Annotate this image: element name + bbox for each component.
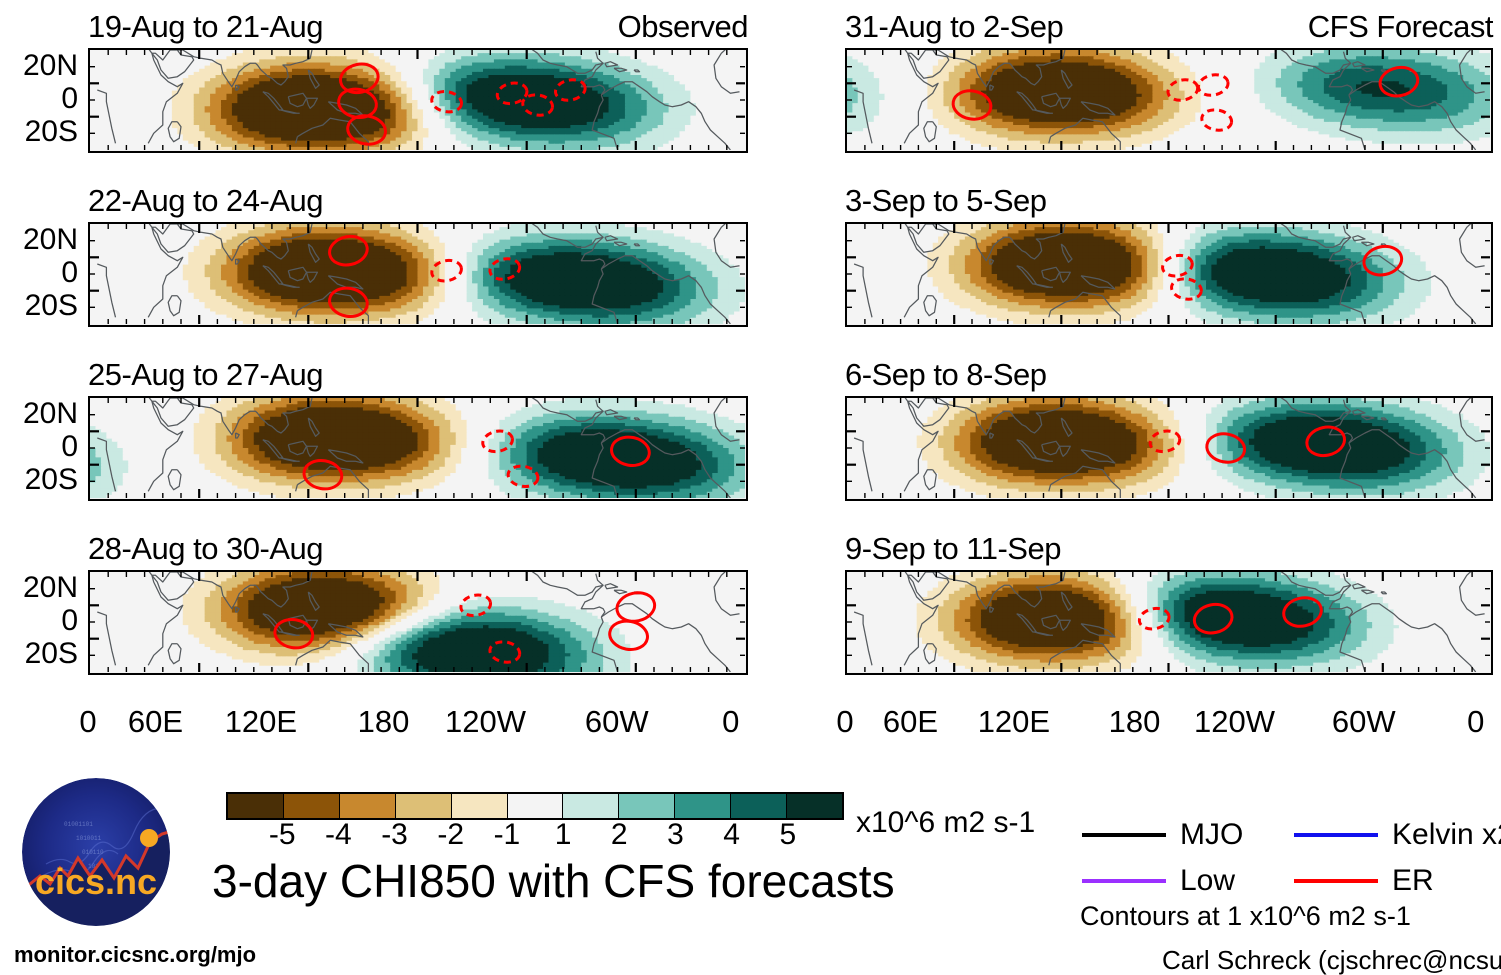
colorbar-tick-1: 1 (555, 820, 572, 850)
map-canvas-fcst-3 (845, 396, 1493, 501)
map-panel-obs-1: 19-Aug to 21-AugObserved (88, 48, 748, 153)
colorbar-bin-1 (284, 794, 340, 818)
colorbar-bin-0 (228, 794, 284, 818)
map-canvas-fcst-4 (845, 570, 1493, 675)
colorbar: -5-4-3-2-112345 (226, 792, 844, 854)
x-tick-label: 60W (585, 706, 649, 737)
y-axis-labels-row2: 20N020S (0, 225, 78, 324)
x-tick-label: 60E (128, 706, 183, 737)
y-tick-label: 20S (0, 465, 78, 498)
column-header-observed: Observed (618, 11, 748, 42)
map-canvas-obs-1 (88, 48, 748, 153)
legend-swatch-low (1082, 879, 1166, 883)
map-canvas-obs-2 (88, 222, 748, 327)
panel-title-obs-4: 28-Aug to 30-Aug (88, 533, 323, 564)
legend-label-er: ER (1392, 866, 1434, 896)
colorbar-bin-10 (787, 794, 842, 818)
legend-swatch-kelvin (1294, 833, 1378, 837)
colorbar-bin-3 (396, 794, 452, 818)
legend-label-low: Low (1180, 866, 1235, 896)
x-tick-label: 120W (1194, 706, 1275, 737)
y-tick-label: 0 (0, 606, 78, 639)
legend-item-mjo: MJO (1082, 820, 1243, 850)
y-axis-labels-row3: 20N020S (0, 399, 78, 498)
legend-item-er: ER (1294, 866, 1434, 896)
x-axis-left: 060E120E180120W60W0 (88, 706, 748, 737)
map-canvas-obs-4 (88, 570, 748, 675)
y-tick-label: 20N (0, 51, 78, 84)
cics-nc-logo[interactable]: 01001101 1010011 010110 10110 cics.nc Co… (16, 772, 176, 932)
panel-title-fcst-2: 3-Sep to 5-Sep (845, 185, 1047, 216)
colorbar-tick-5: 5 (779, 820, 796, 850)
colorbar-bin-4 (452, 794, 508, 818)
y-axis-labels-row1: 20N020S (0, 51, 78, 150)
colorbar-tick-2: 2 (611, 820, 628, 850)
map-canvas-obs-3 (88, 396, 748, 501)
map-canvas-fcst-2 (845, 222, 1493, 327)
panel-title-obs-2: 22-Aug to 24-Aug (88, 185, 323, 216)
cics-nc-logo-mark: 01001101 1010011 010110 10110 cics.nc Co… (16, 772, 176, 932)
legend-label-kelvin: Kelvin x2 (1392, 820, 1501, 850)
legend-label-mjo: MJO (1180, 820, 1243, 850)
x-tick-label: 180 (1109, 706, 1161, 737)
x-tick-label: 180 (358, 706, 410, 737)
colorbar-bin-2 (340, 794, 396, 818)
x-tick-label: 120W (445, 706, 526, 737)
map-panel-fcst-1: 31-Aug to 2-SepCFS Forecast (845, 48, 1493, 153)
y-tick-label: 20N (0, 573, 78, 606)
y-tick-label: 0 (0, 84, 78, 117)
colorbar-bin-5 (508, 794, 564, 818)
logo-wordmark: cics.nc (35, 861, 157, 902)
x-tick-label: 60E (883, 706, 938, 737)
legend-swatch-er (1294, 879, 1378, 883)
colorbar-bin-9 (731, 794, 787, 818)
colorbar-bin-8 (675, 794, 731, 818)
panel-title-fcst-3: 6-Sep to 8-Sep (845, 359, 1047, 390)
colorbar-ticks: -5-4-3-2-112345 (226, 820, 844, 854)
colorbar-tick--1: -1 (494, 820, 521, 850)
legend-item-low: Low (1082, 866, 1235, 896)
map-panel-obs-2: 22-Aug to 24-Aug (88, 222, 748, 327)
map-panel-fcst-2: 3-Sep to 5-Sep (845, 222, 1493, 327)
legend-swatch-mjo (1082, 833, 1166, 837)
y-tick-label: 20N (0, 399, 78, 432)
y-tick-label: 20S (0, 117, 78, 150)
y-tick-label: 0 (0, 258, 78, 291)
y-tick-label: 20S (0, 291, 78, 324)
contour-legend: MJO Kelvin x2 Low ER (1082, 820, 1501, 910)
column-header-forecast: CFS Forecast (1308, 11, 1493, 42)
author-credit: Carl Schreck (cjschrec@ncsu.edu) (1162, 947, 1501, 973)
x-tick-label: 120E (225, 706, 297, 737)
colorbar-bin-7 (619, 794, 675, 818)
x-axis-right: 060E120E180120W60W0 (845, 706, 1493, 737)
colorbar-tick--4: -4 (325, 820, 352, 850)
colorbar-tick-3: 3 (667, 820, 684, 850)
map-canvas-fcst-1 (845, 48, 1493, 153)
y-tick-label: 20S (0, 639, 78, 672)
figure-root: 19-Aug to 21-AugObserved20N020S22-Aug to… (0, 0, 1501, 972)
panel-title-fcst-4: 9-Sep to 11-Sep (845, 533, 1061, 564)
y-tick-label: 0 (0, 432, 78, 465)
map-panel-fcst-3: 6-Sep to 8-Sep (845, 396, 1493, 501)
colorbar-strip (226, 792, 844, 820)
x-tick-label: 0 (722, 706, 739, 737)
colorbar-units: x10^6 m2 s-1 (856, 808, 1035, 838)
contour-interval-note: Contours at 1 x10^6 m2 s-1 (1080, 903, 1411, 930)
legend-item-kelvin: Kelvin x2 (1294, 820, 1501, 850)
panel-title-obs-1: 19-Aug to 21-Aug (88, 11, 323, 42)
colorbar-tick-4: 4 (723, 820, 740, 850)
map-panel-obs-4: 28-Aug to 30-Aug (88, 570, 748, 675)
y-tick-label: 20N (0, 225, 78, 258)
x-tick-label: 0 (79, 706, 96, 737)
panel-title-obs-3: 25-Aug to 27-Aug (88, 359, 323, 390)
x-tick-label: 60W (1332, 706, 1396, 737)
page-title: 3-day CHI850 with CFS forecasts (212, 858, 895, 904)
map-panel-fcst-4: 9-Sep to 11-Sep (845, 570, 1493, 675)
colorbar-bin-6 (563, 794, 619, 818)
x-tick-label: 0 (1467, 706, 1484, 737)
colorbar-tick--2: -2 (437, 820, 464, 850)
colorbar-tick--3: -3 (381, 820, 408, 850)
y-axis-labels-row4: 20N020S (0, 573, 78, 672)
footer-url[interactable]: monitor.cicsnc.org/mjo (14, 944, 256, 966)
map-panel-obs-3: 25-Aug to 27-Aug (88, 396, 748, 501)
x-tick-label: 120E (978, 706, 1050, 737)
colorbar-tick--5: -5 (269, 820, 296, 850)
panel-title-fcst-1: 31-Aug to 2-Sep (845, 11, 1063, 42)
x-tick-label: 0 (836, 706, 853, 737)
